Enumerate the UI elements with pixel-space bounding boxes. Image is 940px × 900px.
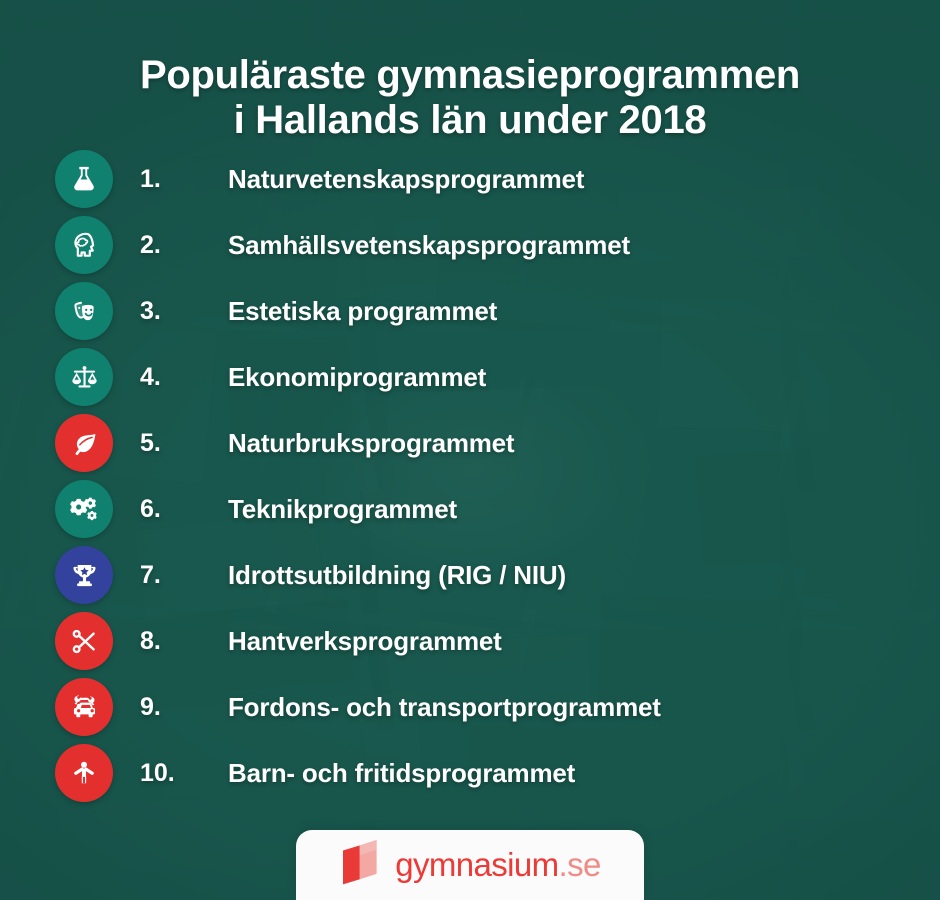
list-item-rank: 6. [140, 495, 212, 524]
brand-wordmark: gymnasium.se [395, 848, 601, 881]
list-item-rank: 5. [140, 429, 212, 458]
list-item-label: Naturbruksprogrammet [228, 428, 514, 459]
scales-icon [69, 362, 100, 393]
list-item: 6. Teknikprogrammet [0, 476, 940, 542]
list-item-label: Teknikprogrammet [228, 494, 457, 525]
leaf-icon [69, 428, 100, 459]
list-item-rank: 8. [140, 627, 212, 656]
flask-icon [69, 164, 99, 194]
list-item: 4. Ekonomiprogrammet [0, 344, 940, 410]
badge-scales [55, 348, 113, 406]
theater-masks-icon [69, 296, 100, 327]
brand-logo-card[interactable]: gymnasium.se [296, 830, 644, 900]
scissors-icon [69, 626, 100, 657]
list-item: 1. Naturvetenskapsprogrammet [0, 146, 940, 212]
list-item-rank: 9. [140, 693, 212, 722]
brand-name: gymnasium [395, 846, 558, 883]
list-item-rank: 2. [140, 231, 212, 260]
child-icon [69, 758, 99, 788]
list-item: 8. Hantverksprogrammet [0, 608, 940, 674]
badge-trophy [55, 546, 113, 604]
badge-scissors [55, 612, 113, 670]
trophy-icon [69, 560, 100, 591]
list-item-rank: 3. [140, 297, 212, 326]
car-wrench-icon [68, 691, 100, 723]
program-ranking-list: 1. Naturvetenskapsprogrammet 2. Samhälls… [0, 146, 940, 806]
list-item-label: Fordons- och transportprogrammet [228, 692, 661, 723]
title-line-2: i Hallands län under 2018 [0, 98, 940, 143]
list-item-rank: 1. [140, 165, 212, 194]
list-item: 2. Samhällsvetenskapsprogrammet [0, 212, 940, 278]
list-item-label: Naturvetenskapsprogrammet [228, 164, 584, 195]
poster: Populäraste gymnasieprogrammen i Halland… [0, 0, 940, 900]
list-item-rank: 7. [140, 561, 212, 590]
badge-child [55, 744, 113, 802]
badge-head-brain [55, 216, 113, 274]
list-item-rank: 10. [140, 759, 212, 788]
gears-icon [69, 494, 100, 525]
brand-tld: .se [559, 846, 601, 883]
badge-leaf [55, 414, 113, 472]
list-item-rank: 4. [140, 363, 212, 392]
page-title: Populäraste gymnasieprogrammen i Halland… [0, 53, 940, 143]
list-item-label: Estetiska programmet [228, 296, 497, 327]
list-item: 5. Naturbruksprogrammet [0, 410, 940, 476]
list-item-label: Ekonomiprogrammet [228, 362, 486, 393]
badge-theater-masks [55, 282, 113, 340]
list-item-label: Idrottsutbildning (RIG / NIU) [228, 560, 566, 591]
title-line-1: Populäraste gymnasieprogrammen [140, 53, 800, 97]
list-item: 3. Estetiska programmet [0, 278, 940, 344]
list-item-label: Barn- och fritidsprogrammet [228, 758, 575, 789]
list-item: 9. Fordons- och transportprogrammet [0, 674, 940, 740]
list-item: 10. Barn- och fritidsprogrammet [0, 740, 940, 806]
list-item-label: Samhällsvetenskapsprogrammet [228, 230, 630, 261]
list-item: 7. Idrottsutbildning (RIG / NIU) [0, 542, 940, 608]
list-item-label: Hantverksprogrammet [228, 626, 502, 657]
head-brain-icon [69, 230, 99, 260]
book-icon [339, 840, 383, 891]
badge-car-wrench [55, 678, 113, 736]
badge-gears [55, 480, 113, 538]
badge-flask [55, 150, 113, 208]
